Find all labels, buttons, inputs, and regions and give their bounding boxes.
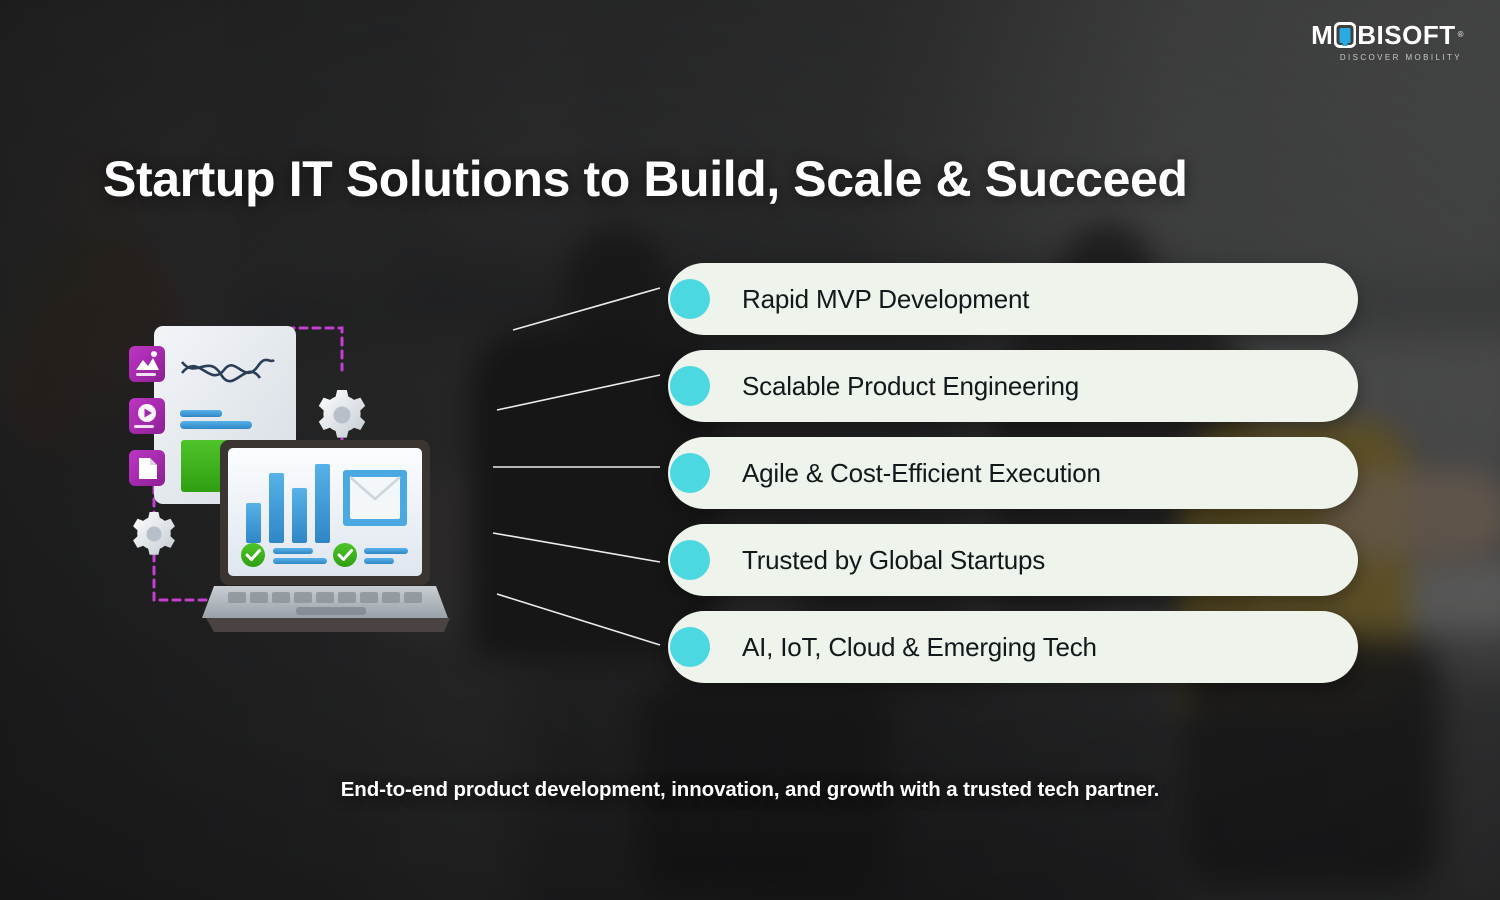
envelope-icon bbox=[343, 470, 407, 526]
feature-label: Agile & Cost-Efficient Execution bbox=[742, 458, 1101, 489]
mobile-device-icon bbox=[1334, 22, 1356, 48]
list-item[interactable]: Scalable Product Engineering bbox=[668, 350, 1358, 422]
laptop-icon bbox=[202, 440, 450, 632]
check-circle-icon bbox=[333, 543, 357, 567]
page-title: Startup IT Solutions to Build, Scale & S… bbox=[103, 152, 1433, 207]
logo-text-post: BISOFT bbox=[1357, 22, 1455, 48]
cyan-dot-icon bbox=[670, 627, 710, 667]
video-play-tile-icon bbox=[129, 398, 165, 434]
feature-label: Trusted by Global Startups bbox=[742, 545, 1045, 576]
logo-wordmark: M BISOFT ® bbox=[1311, 22, 1464, 48]
gear-icon-top bbox=[319, 390, 365, 438]
file-tile-icon bbox=[129, 450, 165, 486]
list-item[interactable]: Agile & Cost-Efficient Execution bbox=[668, 437, 1358, 509]
list-item[interactable]: Rapid MVP Development bbox=[668, 263, 1358, 335]
gear-icon-bottom bbox=[133, 512, 175, 555]
feature-label: AI, IoT, Cloud & Emerging Tech bbox=[742, 632, 1097, 663]
cyan-dot-icon bbox=[670, 279, 710, 319]
image-tile-icon bbox=[129, 346, 165, 382]
analytics-illustration bbox=[110, 318, 450, 648]
logo-tagline: DISCOVER MOBILITY bbox=[1340, 53, 1462, 62]
logo-text-pre: M bbox=[1311, 22, 1333, 48]
cyan-dot-icon bbox=[670, 453, 710, 493]
feature-label: Rapid MVP Development bbox=[742, 284, 1029, 315]
hero-banner: M BISOFT ® DISCOVER MOBILITY Startup IT … bbox=[0, 0, 1500, 900]
feature-list: Rapid MVP Development Scalable Product E… bbox=[668, 263, 1358, 698]
feature-label: Scalable Product Engineering bbox=[742, 371, 1079, 402]
brand-logo[interactable]: M BISOFT ® DISCOVER MOBILITY bbox=[1311, 22, 1464, 62]
trademark-symbol: ® bbox=[1458, 31, 1464, 39]
cyan-dot-icon bbox=[670, 540, 710, 580]
cyan-dot-icon bbox=[670, 366, 710, 406]
list-item[interactable]: Trusted by Global Startups bbox=[668, 524, 1358, 596]
check-circle-icon bbox=[241, 543, 265, 567]
page-subtitle: End-to-end product development, innovati… bbox=[0, 778, 1500, 802]
list-item[interactable]: AI, IoT, Cloud & Emerging Tech bbox=[668, 611, 1358, 683]
